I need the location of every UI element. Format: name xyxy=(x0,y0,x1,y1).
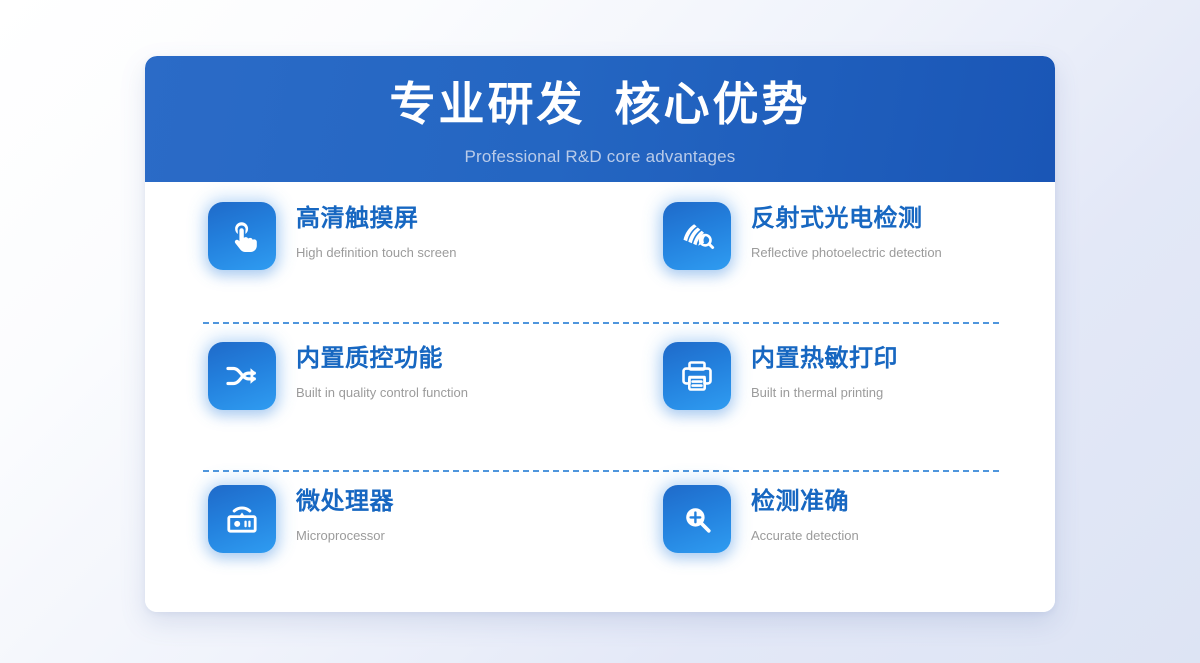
feature-subtitle: Accurate detection xyxy=(751,528,859,544)
feature-item-microprocessor[interactable]: 微处理器 Microprocessor xyxy=(208,485,628,553)
feature-item-touch-screen[interactable]: 高清触摸屏 High definition touch screen xyxy=(208,202,628,270)
page-subtitle: Professional R&D core advantages xyxy=(145,147,1055,167)
magnifier-plus-icon xyxy=(663,485,731,553)
feature-text-block: 微处理器 Microprocessor xyxy=(296,485,394,544)
shuffle-icon xyxy=(208,342,276,410)
touch-hand-icon xyxy=(208,202,276,270)
feature-subtitle: Microprocessor xyxy=(296,528,394,544)
feature-subtitle: Reflective photoelectric detection xyxy=(751,245,942,261)
feature-item-quality-control[interactable]: 内置质控功能 Built in quality control function xyxy=(208,342,628,410)
features-grid: 高清触摸屏 High definition touch screen xyxy=(145,182,1055,612)
feature-title: 内置质控功能 xyxy=(296,344,468,374)
feature-title: 检测准确 xyxy=(751,487,859,517)
feature-subtitle: High definition touch screen xyxy=(296,245,456,261)
feature-text-block: 检测准确 Accurate detection xyxy=(751,485,859,544)
feature-item-thermal-printing[interactable]: 内置热敏打印 Built in thermal printing xyxy=(663,342,1055,410)
light-rays-magnifier-icon xyxy=(663,202,731,270)
feature-text-block: 高清触摸屏 High definition touch screen xyxy=(296,202,456,261)
feature-text-block: 反射式光电检测 Reflective photoelectric detecti… xyxy=(751,202,942,261)
feature-title: 高清触摸屏 xyxy=(296,204,456,234)
feature-item-accurate-detection[interactable]: 检测准确 Accurate detection xyxy=(663,485,1055,553)
feature-text-block: 内置质控功能 Built in quality control function xyxy=(296,342,468,401)
card-header-banner: 专业研发 核心优势 Professional R&D core advantag… xyxy=(145,56,1055,182)
feature-item-photoelectric-detection[interactable]: 反射式光电检测 Reflective photoelectric detecti… xyxy=(663,202,1055,270)
feature-subtitle: Built in thermal printing xyxy=(751,385,898,401)
advantages-card: 专业研发 核心优势 Professional R&D core advantag… xyxy=(145,56,1055,612)
feature-title: 微处理器 xyxy=(296,487,394,517)
microchip-antenna-icon xyxy=(208,485,276,553)
feature-title: 内置热敏打印 xyxy=(751,344,898,374)
printer-icon xyxy=(663,342,731,410)
row-divider-1 xyxy=(203,322,999,324)
page-title: 专业研发 核心优势 xyxy=(145,56,1055,128)
row-divider-2 xyxy=(203,470,999,472)
feature-subtitle: Built in quality control function xyxy=(296,385,468,401)
feature-title: 反射式光电检测 xyxy=(751,204,942,234)
feature-text-block: 内置热敏打印 Built in thermal printing xyxy=(751,342,898,401)
